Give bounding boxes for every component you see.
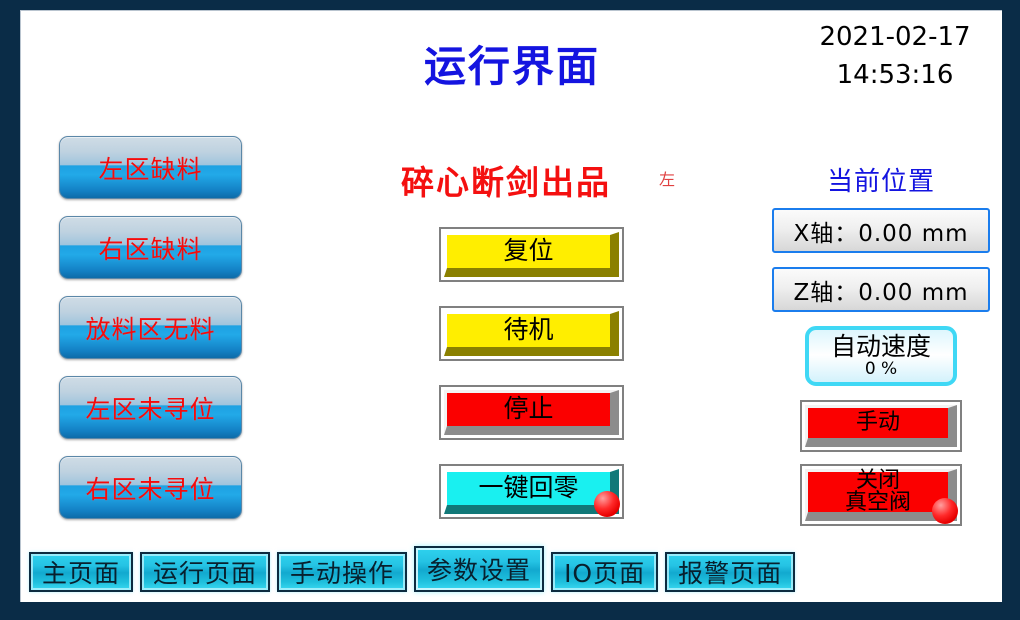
close-vacuum-valve-button[interactable]: 关闭 真空阀 [800,464,962,526]
nav-tab-alarm-page[interactable]: 报警页面 [665,552,795,592]
bottom-navigation-bar: 主页面 运行页面 手动操作 参数设置 IO页面 报警页面 [29,548,995,592]
x-axis-readout: X轴：0.00 mm [772,208,990,253]
led-indicator-icon [594,491,620,517]
status-button-right-material-shortage[interactable]: 右区缺料 [59,216,242,279]
reset-button[interactable]: 复位 [439,227,624,282]
reset-button-label: 复位 [444,232,619,277]
position-panel-heading: 当前位置 [759,161,1002,198]
standby-button-label: 待机 [444,311,619,356]
hmi-window: 运行界面 2021-02-17 14:53:16 左区缺料 右区缺料 放料区无料… [0,0,1020,620]
status-button-label: 放料区无料 [85,310,215,346]
status-button-feed-zone-empty[interactable]: 放料区无料 [59,296,242,359]
brand-mark-character: 左 [659,166,675,190]
status-button-left-not-homed[interactable]: 左区未寻位 [59,376,242,439]
date-text: 2021-02-17 [800,19,990,57]
led-indicator-icon [932,498,958,524]
manual-mode-button[interactable]: 手动 [800,400,962,452]
brand-text: 碎心断剑出品 [401,156,611,204]
status-button-label: 右区缺料 [98,230,202,266]
one-key-return-zero-button-label: 一键回零 [444,469,619,514]
status-button-left-material-shortage[interactable]: 左区缺料 [59,136,242,199]
status-alarm-column: 左区缺料 右区缺料 放料区无料 左区未寻位 右区未寻位 [59,136,259,536]
time-text: 14:53:16 [800,57,990,95]
nav-tab-home[interactable]: 主页面 [29,552,133,592]
one-key-return-zero-button[interactable]: 一键回零 [439,464,624,519]
clock-display: 2021-02-17 14:53:16 [800,19,990,94]
status-button-right-not-homed[interactable]: 右区未寻位 [59,456,242,519]
z-axis-readout: Z轴：0.00 mm [772,267,990,312]
nav-tab-manual-operation[interactable]: 手动操作 [277,552,407,592]
position-speed-panel: 当前位置 X轴：0.00 mm Z轴：0.00 mm 自动速度 0 % 手动 关… [759,161,1002,538]
status-button-label: 右区未寻位 [85,470,215,506]
auto-speed-label: 自动速度 [831,334,931,359]
nav-tab-parameter-settings[interactable]: 参数设置 [414,546,544,592]
auto-speed-value: 0 % [865,361,897,378]
screen-area: 运行界面 2021-02-17 14:53:16 左区缺料 右区缺料 放料区无料… [20,10,1002,602]
stop-button[interactable]: 停止 [439,385,624,440]
status-button-label: 左区缺料 [98,150,202,186]
center-control-column: 复位 待机 停止 一键回零 [439,227,639,543]
status-button-label: 左区未寻位 [85,390,215,426]
stop-button-label: 停止 [444,390,619,435]
nav-tab-run-page[interactable]: 运行页面 [140,552,270,592]
manual-mode-button-line1: 手动 [856,412,900,434]
standby-button[interactable]: 待机 [439,306,624,361]
manual-mode-button-label: 手动 [805,405,957,447]
nav-tab-io-page[interactable]: IO页面 [551,552,658,592]
close-vacuum-valve-line2: 真空阀 [845,492,911,514]
close-vacuum-valve-line1: 关闭 [845,470,911,492]
auto-speed-display[interactable]: 自动速度 0 % [805,326,957,386]
